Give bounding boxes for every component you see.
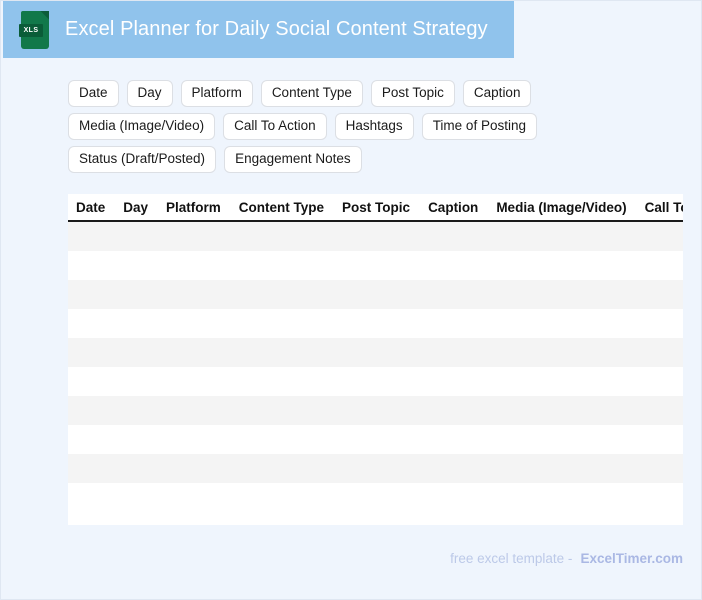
table-row[interactable] [68, 280, 683, 309]
column-chip-list: Date Day Platform Content Type Post Topi… [68, 80, 628, 179]
xls-icon-badge: XLS [19, 24, 43, 37]
chip-post-topic[interactable]: Post Topic [371, 80, 455, 107]
table-row[interactable] [68, 251, 683, 280]
chip-engagement-notes[interactable]: Engagement Notes [224, 146, 362, 173]
xls-file-icon: XLS [19, 11, 51, 49]
chip-row-1: Date Day Platform Content Type Post Topi… [68, 80, 628, 107]
table-col-platform: Platform [166, 200, 221, 215]
chip-day[interactable]: Day [127, 80, 173, 107]
table-body [68, 222, 683, 512]
table-row[interactable] [68, 338, 683, 367]
chip-call-to-action[interactable]: Call To Action [223, 113, 327, 140]
page-root: XLS Excel Planner for Daily Social Conte… [0, 0, 702, 600]
page-title: Excel Planner for Daily Social Content S… [65, 18, 488, 41]
table-row[interactable] [68, 483, 683, 512]
table-col-post-topic: Post Topic [342, 200, 410, 215]
chip-caption[interactable]: Caption [463, 80, 532, 107]
table-inner: Date Day Platform Content Type Post Topi… [68, 194, 683, 512]
table-col-media: Media (Image/Video) [496, 200, 626, 215]
table-col-day: Day [123, 200, 148, 215]
table-col-call-to-action: Call To Action [645, 200, 683, 215]
chip-hashtags[interactable]: Hashtags [335, 113, 414, 140]
chip-platform[interactable]: Platform [181, 80, 253, 107]
header-banner: XLS Excel Planner for Daily Social Conte… [3, 1, 514, 58]
table-row[interactable] [68, 222, 683, 251]
chip-status[interactable]: Status (Draft/Posted) [68, 146, 216, 173]
chip-content-type[interactable]: Content Type [261, 80, 363, 107]
table-row[interactable] [68, 425, 683, 454]
table-col-caption: Caption [428, 200, 478, 215]
planner-table[interactable]: Date Day Platform Content Type Post Topi… [68, 194, 683, 525]
table-col-date: Date [76, 200, 105, 215]
chip-media[interactable]: Media (Image/Video) [68, 113, 215, 140]
table-row[interactable] [68, 396, 683, 425]
chip-date[interactable]: Date [68, 80, 119, 107]
table-row[interactable] [68, 367, 683, 396]
footer: free excel template - ExcelTimer.com [450, 551, 683, 566]
chip-time-of-posting[interactable]: Time of Posting [422, 113, 537, 140]
table-col-content-type: Content Type [239, 200, 324, 215]
table-row[interactable] [68, 454, 683, 483]
chip-row-3: Status (Draft/Posted) Engagement Notes [68, 146, 628, 173]
footer-brand-link[interactable]: ExcelTimer.com [580, 551, 683, 566]
footer-label: free excel template - [450, 551, 572, 566]
table-row[interactable] [68, 309, 683, 338]
chip-row-2: Media (Image/Video) Call To Action Hasht… [68, 113, 628, 140]
table-header-row: Date Day Platform Content Type Post Topi… [68, 194, 683, 222]
